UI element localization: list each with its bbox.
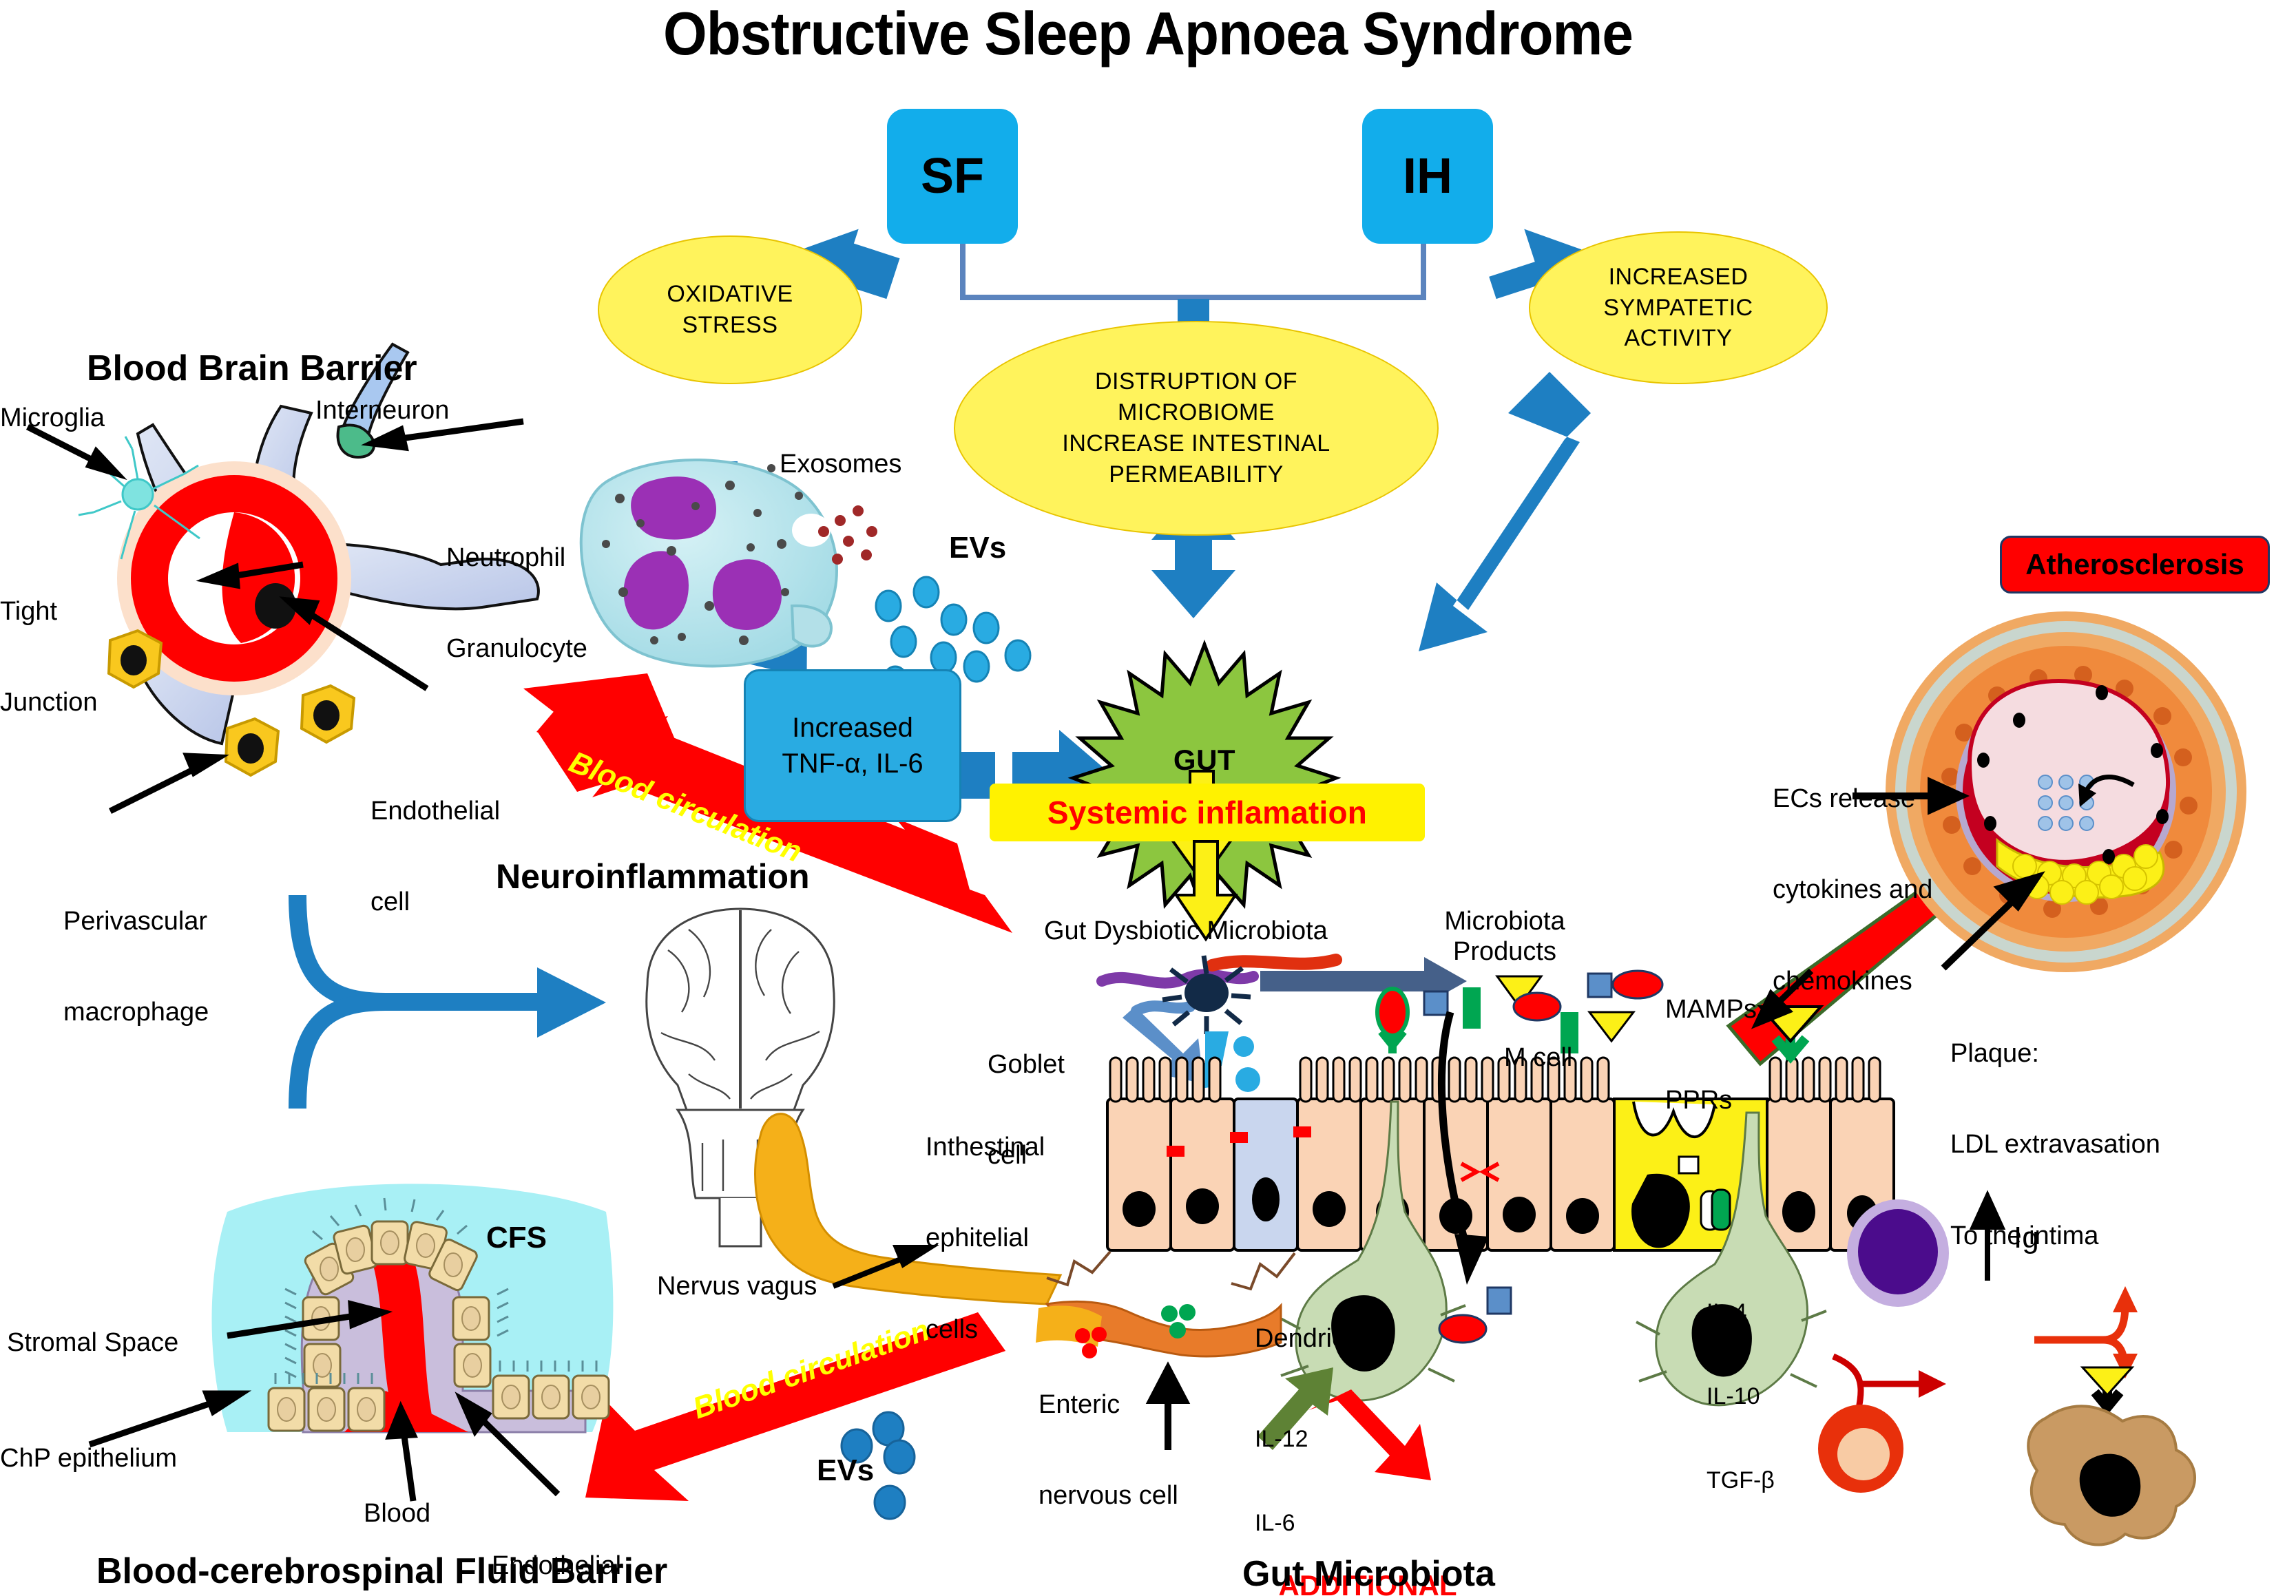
driver-connector [963, 240, 1423, 297]
atherosclerosis-banner[interactable]: Atherosclerosis [2000, 536, 2270, 594]
label-neutrophil-granulocyte: Neutrophil Granulocyte [446, 482, 587, 725]
label-perivascular-macrophage: Perivascular macrophage [63, 846, 209, 1089]
label-dendric-cell: Dendric cell [1255, 1323, 1392, 1354]
label-neuroinflammation: Neuroinflammation [496, 857, 810, 896]
label-enteric-nervous-cell: Enteric nervous cell [1039, 1329, 1178, 1572]
label-chp-epithelium: ChP epithelium [0, 1443, 177, 1473]
label-plaque: Plaque: LDL extravasation To the intima [1950, 978, 2160, 1312]
label-microglia: Microglia [0, 403, 105, 433]
label-evs-top: EVs [949, 530, 1006, 565]
ellipse-line: STRESS [682, 310, 777, 341]
driver-box-sf[interactable]: SF [887, 109, 1018, 244]
driver-label-sf: SF [921, 148, 984, 204]
ellipse-line: INCREASE INTESTINAL [1062, 428, 1330, 459]
bcsfb-panel-title: Blood-cerebrospinal Fluid Barrier [96, 1551, 667, 1592]
systemic-inflammation-banner[interactable]: Systemic inflamation [990, 784, 1425, 841]
label-gut-dysbiotic-microbiota: Gut Dysbiotic Microbiota [1044, 916, 1328, 946]
systemic-inflammation-label: Systemic inflamation [1047, 794, 1367, 831]
diagram-canvas: Obstructive Sleep Apnoea Syndrome [0, 0, 2296, 1596]
label-evs-bottom: EVs [817, 1453, 874, 1488]
label-blood: Blood [364, 1498, 430, 1529]
label-treg-cytokines: IL-4 IL-10 TGF-β [1707, 1242, 1775, 1551]
label-exosomes: Exosomes [780, 449, 901, 479]
label-tight-junction: Tight Junction [0, 536, 98, 779]
label-cfs: CFS [486, 1220, 547, 1255]
label-ecs-release: ECs release cytokines and chemokines [1773, 723, 1932, 1057]
label-interneuron: Interneuron [315, 395, 449, 426]
driver-label-ih: IH [1403, 148, 1452, 204]
label-intestinal-epithelial-cells: Inthestinal ephitelial cells [926, 1071, 1045, 1405]
gut-panel-title: Gut Microbiota [1242, 1553, 1495, 1595]
ellipse-line: MICROBIOME [1118, 397, 1275, 428]
cytokine-line: Increased [792, 710, 913, 746]
ellipse-line: ACTIVITY [1624, 323, 1732, 354]
ellipse-line: INCREASED [1609, 262, 1749, 293]
ellipse-line: SYMPATETIC [1603, 293, 1753, 324]
atherosclerosis-label: Atherosclerosis [2025, 548, 2244, 581]
ellipse-line: DISTRUPTION OF [1095, 366, 1297, 397]
label-stromal-space: Stromal Space [7, 1327, 178, 1358]
ellipse-line: OXIDATIVE [667, 279, 793, 310]
label-microbiota-products: Microbiota Products [1405, 906, 1605, 967]
label-endothelial-cell-bbb: Endothelial cell [371, 735, 500, 978]
neutrophil-granulocyte-artwork [581, 460, 877, 666]
label-m-cell: M cell [1504, 1042, 1572, 1073]
mechanism-sympathetic-activity[interactable]: INCREASED SYMPATETIC ACTIVITY [1529, 231, 1828, 384]
cytokine-box[interactable]: Increased TNF-α, IL-6 [744, 669, 961, 822]
label-mamps-pprs: MAMPs PPRs [1665, 934, 1757, 1177]
cytokine-line: TNF-α, IL-6 [782, 746, 923, 781]
mechanism-oxidative-stress[interactable]: OXIDATIVE STRESS [598, 235, 862, 384]
label-nervus-vagus: Nervus vagus [657, 1271, 817, 1301]
mechanism-microbiome-disruption[interactable]: DISTRUPTION OF MICROBIOME INCREASE INTES… [954, 321, 1439, 536]
bbb-panel-title: Blood Brain Barrier [87, 348, 417, 389]
ellipse-line: PERMEABILITY [1109, 459, 1284, 490]
driver-box-ih[interactable]: IH [1362, 109, 1493, 244]
